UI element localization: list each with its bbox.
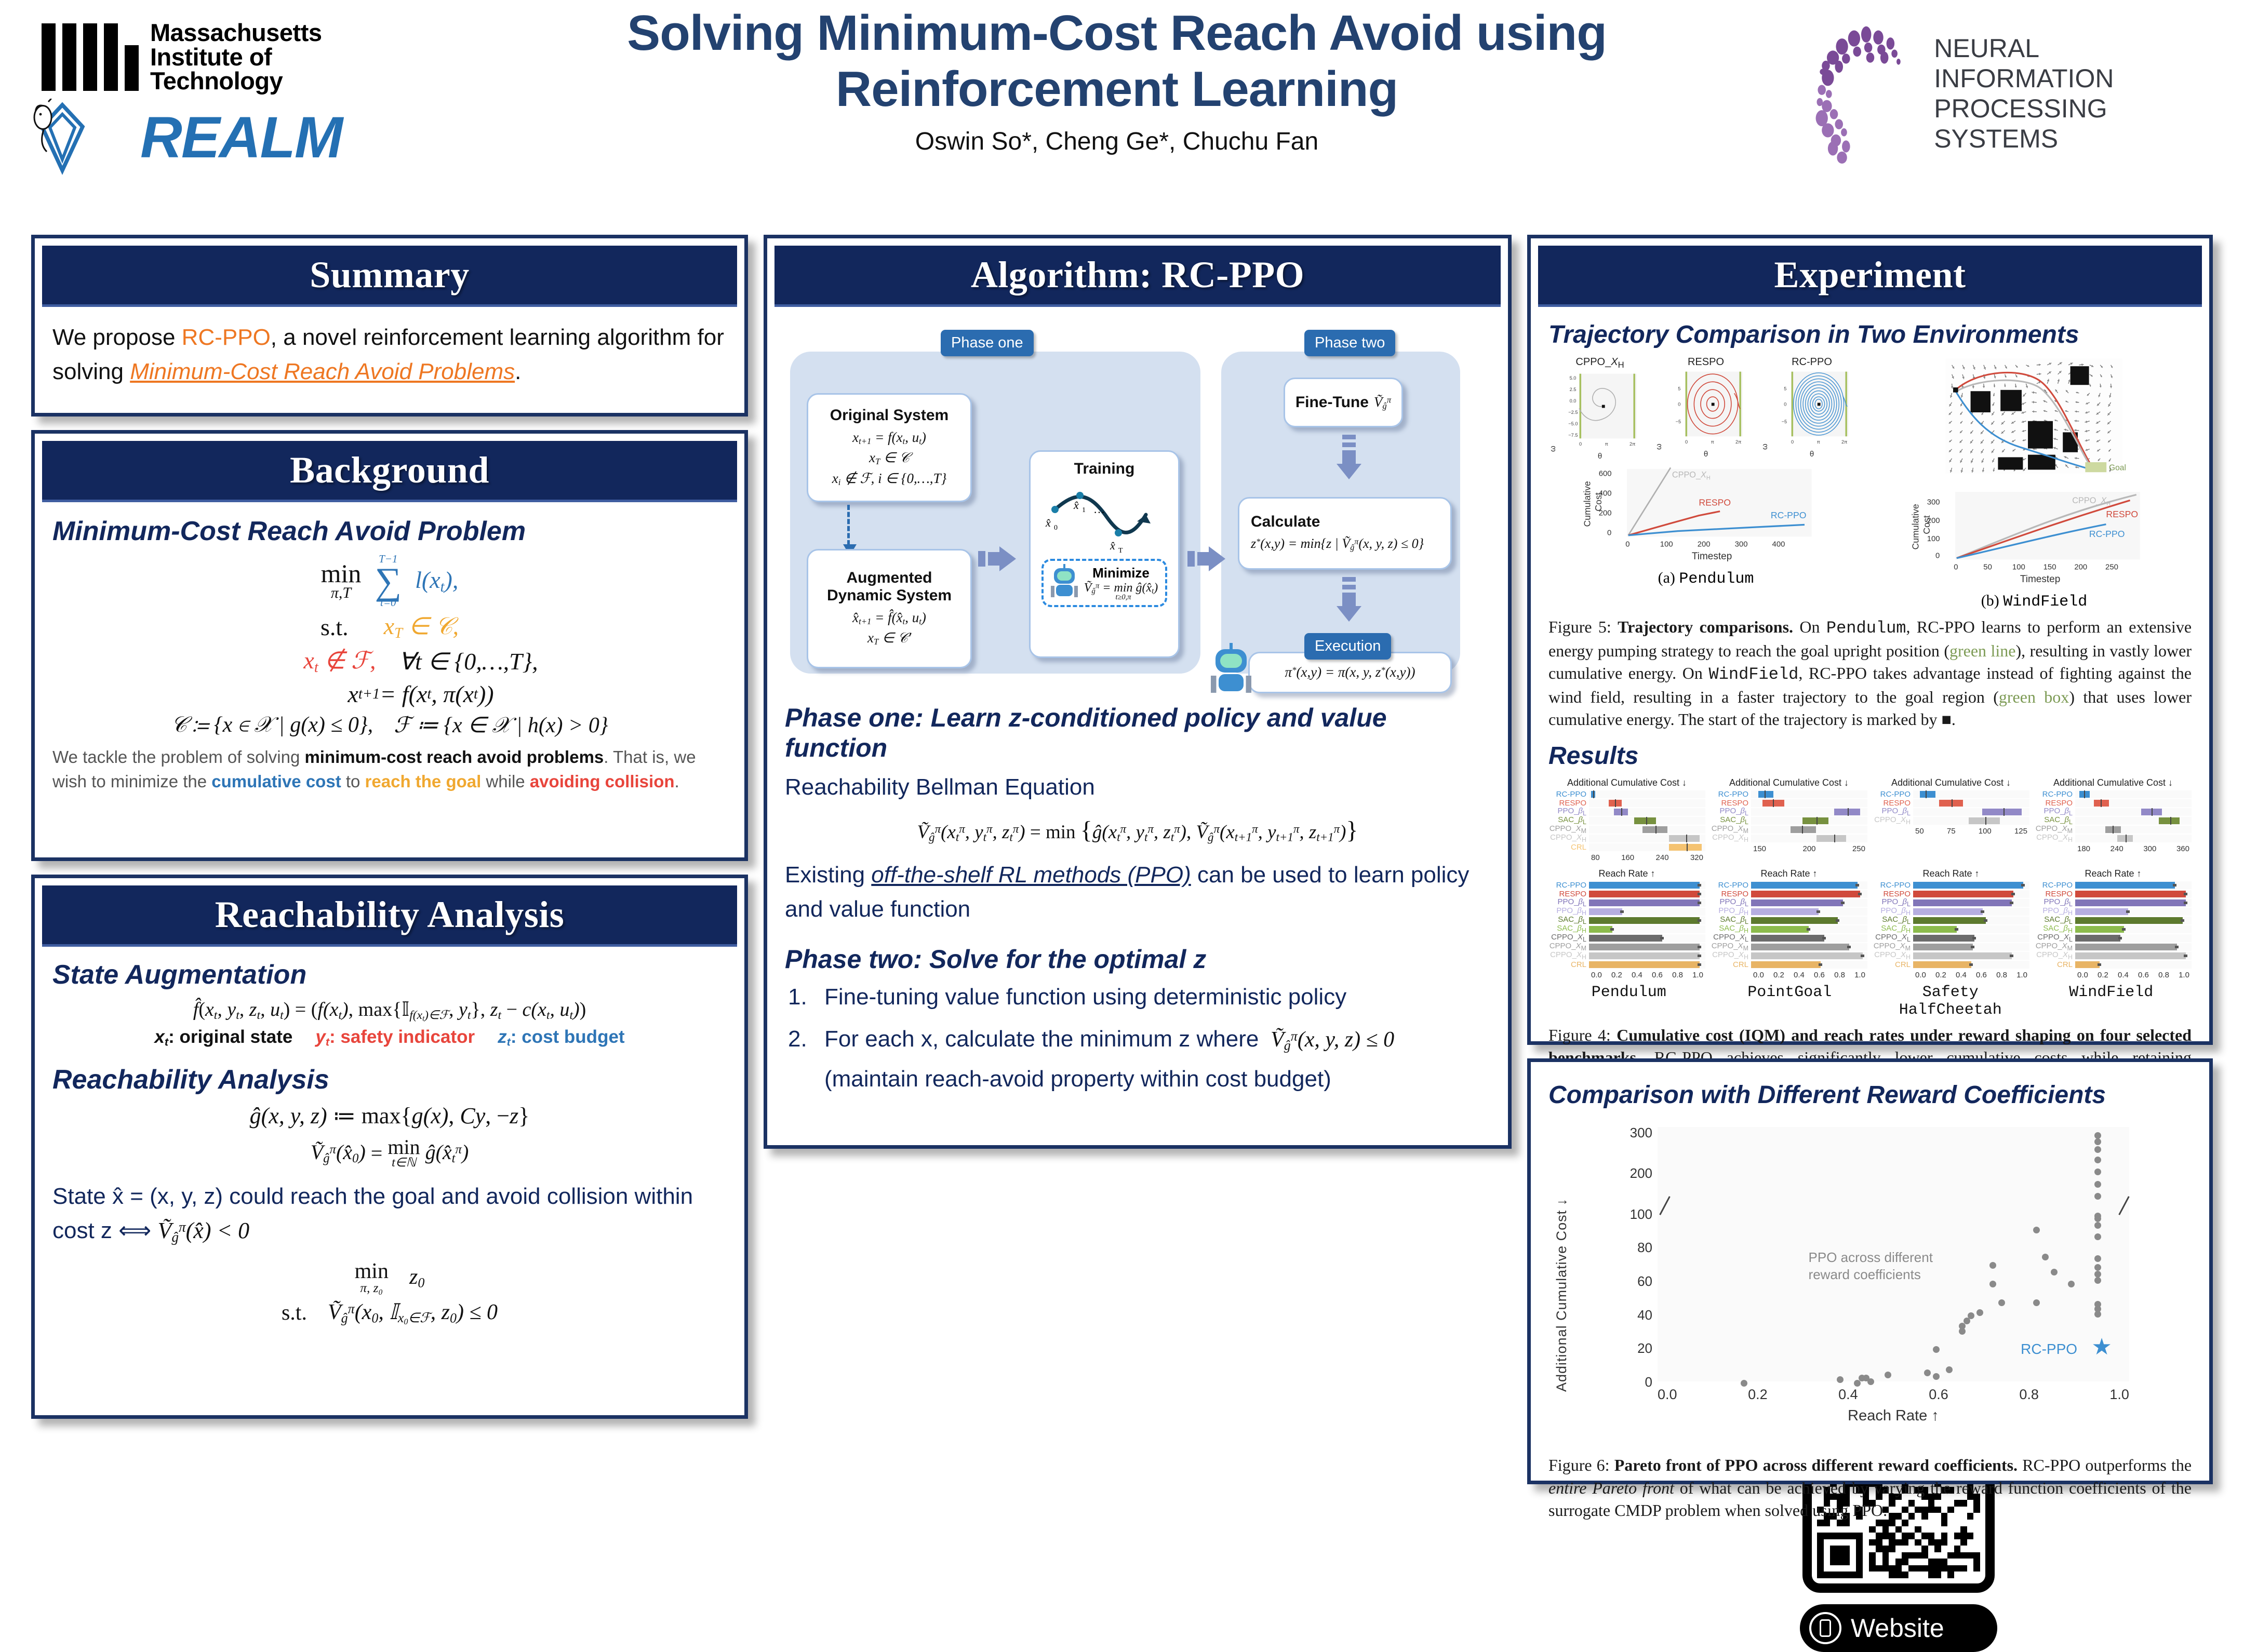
cost-row-track — [1751, 790, 1867, 798]
cost-row-track — [1751, 835, 1867, 842]
reach-row-track — [1589, 961, 1705, 969]
cost-row: RC-PPO — [2035, 790, 2192, 799]
scatter-xtick: 0.4 — [1838, 1387, 1858, 1403]
bellman-equation: Ṽĝπ(xtπ, ytπ, ztπ) = min {ĝ(xtπ, ytπ,… — [785, 816, 1490, 844]
svg-text:−7.5: −7.5 — [1568, 433, 1578, 438]
cost-row-track — [2075, 817, 2192, 825]
panel-reward-coefficients: Comparison with Different Reward Coeffic… — [1527, 1058, 2213, 1484]
reach-row-track — [2075, 881, 2192, 889]
reachability-statement-math: Ṽĝπ(x̂) < 0 — [157, 1218, 249, 1243]
reward-heading: Comparison with Different Reward Coeffic… — [1548, 1081, 2192, 1109]
reach-bar — [1751, 961, 1821, 968]
summary-text-end: . — [515, 359, 521, 384]
reach-chart-title: Reach Rate ↑ — [1873, 868, 2029, 879]
aug-eq-1: x̂t+1 = f̂(x̂t, ut) — [852, 608, 926, 628]
reach-row-track — [1751, 890, 1867, 898]
cost-row-label: RESPO — [2035, 799, 2075, 807]
cost-iqm-interval — [1669, 844, 1701, 851]
reach-row-label: CPPO_XH — [2035, 951, 2075, 961]
phase-ylabel-rcppo: ω — [1760, 369, 1769, 450]
scatter-yticks: 020406080100200300 — [1611, 1127, 1652, 1381]
reach-row-label: RC-PPO — [1548, 881, 1589, 889]
reach-bar — [2075, 899, 2186, 906]
cost-iqm-interval — [2094, 800, 2109, 807]
background-header: Background — [42, 441, 737, 502]
scatter-point — [2033, 1299, 2040, 1306]
cost-row: CPPO_XH — [1711, 834, 1867, 843]
value-equation: Ṽĝπ(x̂0) = mint∈ℕ ĝ(x̂tπ) — [52, 1137, 727, 1169]
reach-bar — [1913, 917, 1986, 924]
cost-row-track — [1913, 790, 2029, 798]
background-title: Background — [290, 449, 489, 492]
panel-algorithm: Algorithm: RC-PPO Phase one Phase two Or… — [764, 235, 1512, 1149]
cost-row-track — [1913, 817, 2029, 825]
reach-bar — [1913, 908, 1983, 915]
reach-row-track — [2075, 952, 2192, 960]
cost-iqm-interval — [1791, 826, 1816, 833]
cost-iqm-interval — [1758, 791, 1774, 798]
cost-row: CPPO_XH — [2035, 834, 2192, 843]
scatter-point — [2094, 1169, 2101, 1175]
benchmark-name: PointGoal — [1709, 984, 1871, 1019]
phase-plot-rcppo: 5 0 −5 0 π 2π — [1769, 369, 1863, 447]
cost-iqm-interval — [2105, 826, 2121, 833]
scatter-point — [2094, 1271, 2101, 1278]
algorithm-diagram: Phase one Phase two Original System xt+1… — [785, 326, 1490, 689]
cost-row-track — [1589, 790, 1705, 798]
scatter-point — [2068, 1281, 2075, 1287]
reach-row-track — [1589, 899, 1705, 907]
reach-xticks: 0.00.20.40.60.81.0 — [1913, 969, 2029, 979]
bellman-label: Reachability Bellman Equation — [785, 770, 1490, 804]
reach-row-track — [1589, 917, 1705, 924]
background-note: We tackle the problem of solving minimum… — [52, 745, 727, 794]
scatter-xlabel: Reach Rate ↑ — [1658, 1407, 2129, 1425]
scatter-point — [2094, 1277, 2101, 1284]
cost-iqm-interval — [1669, 835, 1700, 842]
pendulum-figure: CPPO_XH ω — [1548, 356, 1863, 588]
reach-row: CRL — [1548, 960, 1705, 969]
reach-row: RC-PPO — [1548, 881, 1705, 890]
reach-bar — [1589, 908, 1622, 915]
reach-bar — [2075, 882, 2175, 889]
reach-row-track — [1751, 908, 1867, 916]
cost-chart-safety-halfcheetah: Additional Cumulative Cost ↓ RC-PPO RESP… — [1873, 777, 2029, 862]
reach-bar — [1913, 899, 2012, 906]
reach-xticks: 0.00.20.40.60.81.0 — [1589, 969, 1705, 979]
cost-row-label: RC-PPO — [1548, 790, 1589, 798]
phase-panel-rcppo: RC-PPO ω — [1760, 356, 1863, 461]
reach-bar — [2075, 891, 2186, 897]
reach-chart-safety-halfcheetah: Reach Rate ↑ RC-PPO RESPO PPO_βL PPO_βH … — [1873, 868, 2029, 979]
scatter-ytick: 0 — [1645, 1374, 1652, 1390]
reach-row-track — [1751, 943, 1867, 951]
scatter-point — [2094, 1264, 2101, 1271]
reach-row-label: RC-PPO — [1873, 881, 1913, 889]
cost-iqm-interval — [2159, 817, 2180, 824]
svg-text:RESPO: RESPO — [2106, 509, 2138, 519]
reach-row-label: CRL — [1548, 961, 1589, 969]
column-right: Experiment Trajectory Comparison in Two … — [1527, 235, 2213, 1498]
arrow-to-phase-two — [1187, 546, 1225, 571]
calculate-box: Calculate z*(x,y) = min{z | Ṽĝπ(x, y, … — [1238, 497, 1452, 570]
cost-row-label: RESPO — [1873, 799, 1913, 807]
cost-chart-title: Additional Cumulative Cost ↓ — [1548, 777, 1705, 788]
mit-line-1: Massachusetts — [150, 21, 322, 45]
cost-row-track — [1589, 843, 1705, 851]
scatter-ytick: 60 — [1637, 1273, 1652, 1290]
panel-background: Background Minimum-Cost Reach Avoid Prob… — [31, 430, 748, 861]
panel-reachability: Reachability Analysis State Augmentation… — [31, 875, 748, 1419]
scatter-point — [2094, 1233, 2101, 1240]
reach-row-track — [1913, 961, 2029, 969]
reach-row: CPPO_XH — [1711, 951, 1867, 960]
set-definitions: 𝒞 ≔ {x ∈ 𝒳 | g(x) ≤ 0}, ℱ ≔ {x ∈ 𝒳 | h(x… — [171, 712, 608, 738]
svg-text:Timestep: Timestep — [1692, 551, 1732, 562]
cost-row-label: RC-PPO — [1711, 790, 1751, 798]
aug-eq-2: xT ∈ 𝒞′ — [867, 628, 911, 648]
reach-row-track — [1913, 890, 2029, 898]
mit-logo-mark — [42, 23, 139, 91]
reachability-statement: State x̂ = (x, y, z) could reach the goa… — [52, 1179, 727, 1248]
augmentation-legend: xt: original state yt: safety indicator … — [52, 1027, 727, 1049]
reach-bar — [1913, 961, 1971, 968]
reach-row: CPPO_XH — [1548, 951, 1705, 960]
reach-row-track — [2075, 908, 2192, 916]
cost-row-track — [2075, 826, 2192, 834]
minimize-equation: Ṽĝπ = mint≥0,π ĝ(x̂t) — [1084, 581, 1158, 601]
svg-text:2π: 2π — [1629, 441, 1636, 447]
reach-bar — [1913, 952, 2012, 959]
pendulum-phase-row: CPPO_XH ω — [1548, 356, 1863, 461]
scatter-point — [1946, 1366, 1953, 1373]
reachability-subheading: Reachability Analysis — [52, 1064, 727, 1095]
svg-text:RESPO: RESPO — [1699, 498, 1731, 508]
phase-panel-cppo: CPPO_XH ω — [1548, 356, 1651, 461]
svg-text:100: 100 — [1927, 534, 1940, 543]
scatter-point — [1741, 1380, 1747, 1387]
reach-row-track — [1589, 952, 1705, 960]
phase-plot-respo: 5 0 −5 0 π 2π — [1663, 369, 1757, 447]
reach-bar — [2075, 952, 2186, 959]
reach-row-label: CPPO_XH — [1711, 951, 1751, 961]
calculate-eq: z*(x,y) = min{z | Ṽĝπ(x, y, z) ≤ 0} — [1251, 534, 1424, 554]
svg-text:300: 300 — [1927, 498, 1940, 507]
scatter-ylabel: Additional Cumulative Cost ↓ — [1554, 1148, 1570, 1392]
reach-row-label: CRL — [1711, 961, 1751, 969]
reach-bar — [1913, 935, 1974, 942]
cost-xticks: 180240300360 — [2075, 843, 2192, 853]
reach-row: RC-PPO — [1711, 881, 1867, 890]
scatter-ytick: 40 — [1637, 1307, 1652, 1323]
svg-text:0: 0 — [1791, 439, 1794, 445]
reach-row-track — [2075, 890, 2192, 898]
scatter-point — [2094, 1222, 2101, 1229]
cost-row-label: CPPO_XH — [1548, 834, 1589, 843]
reach-row-track — [1913, 881, 2029, 889]
svg-text:−5.0: −5.0 — [1568, 421, 1578, 426]
summary-text: We propose RC-PPO, a novel reinforcement… — [52, 320, 727, 389]
cost-row-track — [1751, 817, 1867, 825]
summation: T−1 ∑ t=0 — [375, 554, 402, 608]
svg-text:−5: −5 — [1782, 419, 1787, 424]
reach-row-track — [1913, 952, 2029, 960]
reach-row-label: CPPO_XH — [1873, 951, 1913, 961]
reach-chart-pendulum: Reach Rate ↑ RC-PPO RESPO PPO_βL PPO_βH … — [1548, 868, 1705, 979]
scatter-annotation: PPO across differentreward coefficients — [1809, 1249, 1933, 1283]
reach-row-track — [1913, 943, 2029, 951]
mit-line-3: Technology — [150, 69, 322, 93]
phase-xlabel-rcppo: θ — [1760, 450, 1863, 459]
cost-row-track — [1589, 835, 1705, 842]
scatter-point — [2094, 1301, 2101, 1308]
results-cost-charts: Additional Cumulative Cost ↓ RC-PPO RESP… — [1548, 777, 2192, 862]
svg-text:CPPO_XH: CPPO_XH — [2072, 496, 2111, 507]
orig-eq-2: xT ∈ 𝒞 — [869, 448, 910, 468]
cost-row-track — [2075, 808, 2192, 816]
reach-row: CRL — [1711, 960, 1867, 969]
fine-tune-eq: Ṽĝπ — [1374, 392, 1391, 412]
reach-row-track — [1589, 925, 1705, 933]
scatter-xtick: 1.0 — [2109, 1387, 2129, 1403]
phase-two-steps: Fine-tuning value function using determi… — [785, 982, 1490, 1055]
reach-row-track — [1751, 917, 1867, 924]
orig-to-augmented-arrow — [847, 505, 850, 545]
reach-row-label: CRL — [2035, 961, 2075, 969]
reach-row-track — [2075, 899, 2192, 907]
objective-term: l(xt), — [415, 566, 458, 596]
arrow-to-training — [978, 546, 1016, 571]
cost-iqm-interval — [1939, 800, 1963, 807]
scatter-point — [1924, 1369, 1931, 1376]
optimization-problem: min π, z₀ z0 s.t. Ṽĝπ(x0, 𝕀x0∈ℱ, z0) ≤… — [52, 1261, 727, 1327]
reach-chart-windfield: Reach Rate ↑ RC-PPO RESPO PPO_βL PPO_βH … — [2035, 868, 2192, 979]
scatter-plot-area: PPO across differentreward coefficients … — [1658, 1127, 2129, 1381]
step-2: For each x, calculate the minimum z wher… — [785, 1024, 1490, 1055]
realm-wordmark: REALM — [140, 109, 342, 167]
scatter-ytick: 200 — [1630, 1165, 1652, 1181]
realm-shield-icon — [31, 99, 140, 177]
svg-text:5: 5 — [1784, 386, 1786, 391]
reach-row-track — [1913, 934, 2029, 942]
cost-iqm-interval — [1920, 791, 1935, 798]
panel-summary: Summary We propose RC-PPO, a novel reinf… — [31, 235, 748, 417]
scatter-point — [1837, 1376, 1844, 1383]
reach-bar — [1751, 882, 1858, 889]
reach-bar — [1913, 891, 2013, 897]
cost-iqm-interval — [1762, 800, 1784, 807]
reach-bar — [1913, 926, 1957, 933]
cost-iqm-interval — [2117, 835, 2133, 842]
cost-chart-windfield: Additional Cumulative Cost ↓ RC-PPO RESP… — [2035, 777, 2192, 862]
scatter-point — [2094, 1146, 2101, 1153]
neurips-swirl-icon — [1808, 21, 1929, 166]
cost-row-track — [1913, 799, 2029, 807]
reach-bar — [1751, 917, 1838, 924]
reach-chart-title: Reach Rate ↑ — [2035, 868, 2192, 879]
cost-xticks: 5075100125 — [1913, 825, 2029, 836]
reach-bar — [1751, 891, 1860, 897]
reach-bar — [1589, 944, 1700, 950]
cost-row-label: RC-PPO — [2035, 790, 2075, 798]
scatter-xtick: 0.2 — [1748, 1387, 1768, 1403]
scatter-ytick: 300 — [1630, 1125, 1652, 1141]
reach-bar — [1751, 899, 1843, 906]
windfield-cumcost-plot: 300 200 100 0 Cumulative Cost CPPO_XH RE… — [1877, 488, 2192, 586]
reach-row-track — [1913, 908, 2029, 916]
summary-header: Summary — [42, 246, 737, 307]
reach-chart-title: Reach Rate ↑ — [1548, 868, 1705, 879]
background-subheading: Minimum-Cost Reach Avoid Problem — [52, 516, 727, 547]
realm-logo: REALM — [31, 99, 426, 177]
svg-text:RC-PPO: RC-PPO — [1771, 510, 1807, 520]
scatter-point — [2094, 1157, 2101, 1163]
benchmark-names-row: PendulumPointGoalSafety HalfCheetahWindF… — [1548, 984, 2192, 1019]
cost-chart-title: Additional Cumulative Cost ↓ — [2035, 777, 2192, 788]
figure-5: CPPO_XH ω — [1548, 356, 2192, 611]
svg-text:2π: 2π — [1841, 439, 1848, 445]
cost-row-label: RC-PPO — [1873, 790, 1913, 798]
reach-row-track — [1913, 925, 2029, 933]
reach-row-track — [1589, 890, 1705, 898]
benchmark-name: Safety HalfCheetah — [1870, 984, 2031, 1019]
cost-xticks: 80160240320 — [1589, 852, 1705, 862]
reach-row: CRL — [1873, 960, 2029, 969]
note-reach-goal: reach the goal — [365, 772, 482, 791]
opt-min: min π, z₀ — [355, 1261, 389, 1295]
svg-text:1: 1 — [1082, 506, 1086, 514]
cost-iqm-interval — [1614, 809, 1628, 815]
reach-row-track — [1751, 952, 1867, 960]
note-cumulative-cost: cumulative cost — [211, 772, 341, 791]
cost-row: RC-PPO — [1548, 790, 1705, 799]
reach-row-track — [1589, 908, 1705, 916]
phase-ylabel-respo: ω — [1654, 369, 1663, 450]
svg-text:100: 100 — [1660, 540, 1673, 548]
svg-text:Cumulative: Cumulative — [1582, 481, 1592, 527]
windfield-map-plot: Goal — [1877, 356, 2192, 481]
cost-row-label: CPPO_XH — [1711, 834, 1751, 843]
svg-text:0: 0 — [1607, 529, 1611, 538]
svg-text:150: 150 — [2043, 562, 2056, 571]
svg-text:0: 0 — [1935, 552, 1940, 560]
pendulum-cumcost-plot: 600 400 200 0 Cumulative Cost CPPO_XH RE… — [1548, 465, 1863, 563]
phase-two-tag: Phase two — [1304, 330, 1395, 356]
reach-bar — [1589, 882, 1700, 889]
step-2-math: Ṽĝπ(x, y, z) ≤ 0 — [1265, 1028, 1395, 1052]
reach-row-track — [1589, 943, 1705, 951]
cost-row: RC-PPO — [1873, 790, 2029, 799]
reach-chart-pointgoal: Reach Rate ↑ RC-PPO RESPO PPO_βL PPO_βH … — [1711, 868, 1867, 979]
reach-xticks: 0.00.20.40.60.81.0 — [2075, 969, 2192, 979]
website-button[interactable]: Website — [1800, 1604, 1997, 1652]
cost-iqm-interval — [1802, 817, 1828, 824]
cost-row-label: CRL — [1548, 843, 1589, 851]
poster-authors: Oswin So*, Cheng Ge*, Chuchu Fan — [493, 127, 1740, 156]
subcaption-a: (a) Pendulum — [1548, 569, 1863, 588]
phase-panel-respo: RESPO ω — [1654, 356, 1757, 461]
subcaption-b: (b) WindField — [1877, 592, 2192, 611]
scatter-point — [1885, 1372, 1891, 1378]
cost-row: CPPO_XH — [1873, 816, 2029, 825]
reach-bar — [1751, 935, 1824, 942]
original-system-box: Original System xt+1 = f(xt, ut) xT ∈ 𝒞 … — [807, 393, 972, 502]
reach-row-track — [1751, 899, 1867, 907]
scatter-point — [1989, 1262, 1996, 1269]
phase-ylabel-cppo: ω — [1548, 371, 1557, 452]
poster-title-line-1: Solving Minimum-Cost Reach Avoid using — [493, 5, 1740, 61]
svg-text:Timestep: Timestep — [2020, 574, 2060, 585]
reach-row-label: RC-PPO — [1711, 881, 1751, 889]
scatter-point — [2094, 1181, 2101, 1188]
cost-row-track — [1589, 826, 1705, 834]
svg-text:0: 0 — [1784, 401, 1786, 407]
st-label: s.t. — [320, 613, 349, 641]
svg-text:2.5: 2.5 — [1570, 387, 1577, 392]
scatter-point — [2094, 1193, 2101, 1200]
poster-header: Massachusetts Institute of Technology RE… — [0, 0, 2244, 235]
summary-link: Minimum-Cost Reach Avoid Problems — [130, 359, 515, 384]
svg-text:0: 0 — [1678, 401, 1680, 407]
scatter-ytick: 80 — [1637, 1240, 1652, 1256]
experiment-header: Experiment — [1538, 246, 2202, 307]
reach-bar — [1589, 891, 1700, 897]
constraint-forall: ∀t ∈ {0,…,T}, — [399, 647, 538, 675]
phone-icon — [1809, 1612, 1841, 1644]
scatter-point — [1933, 1373, 1940, 1380]
arrow-finetune-to-calc — [1337, 435, 1361, 479]
svg-text:200: 200 — [1698, 540, 1711, 548]
svg-text:0: 0 — [1579, 441, 1582, 447]
reach-row-label: RESPO — [1873, 890, 1913, 898]
scatter-point — [1933, 1346, 1940, 1353]
scatter-xticks: 0.00.20.40.60.81.0 — [1658, 1387, 2129, 1403]
cost-iqm-interval — [1834, 809, 1860, 815]
svg-text:100: 100 — [2012, 562, 2025, 571]
svg-text:600: 600 — [1599, 469, 1612, 478]
mit-line-2: Institute of — [150, 45, 322, 70]
opt-constraint: Ṽĝπ(x0, 𝕀x0∈ℱ, z0) ≤ 0 — [328, 1299, 498, 1327]
reach-bar — [1589, 935, 1662, 942]
reach-row-track — [1751, 925, 1867, 933]
scatter-point — [2094, 1255, 2101, 1262]
cost-iqm-interval — [2079, 791, 2090, 798]
cost-row: CRL — [1548, 843, 1705, 852]
arrow-calc-to-exec — [1337, 577, 1361, 622]
reach-row: RC-PPO — [1873, 881, 2029, 890]
reach-row: CPPO_XH — [1873, 951, 2029, 960]
opt-st-label: s.t. — [282, 1300, 307, 1325]
svg-text:Cost: Cost — [1921, 515, 1932, 534]
svg-text:0: 0 — [1625, 540, 1629, 548]
legend-y: yt: safety indicator — [315, 1027, 475, 1049]
reach-bar — [1751, 944, 1849, 950]
cost-row-label: RESPO — [1548, 799, 1589, 807]
reach-bar — [2075, 935, 2120, 942]
trajectory-heading: Trajectory Comparison in Two Environment… — [1548, 320, 2192, 349]
ghat-equation: ĝ(x, y, z) ≔ max{g(x), Cy, −z} — [52, 1103, 727, 1129]
svg-text:…: … — [1093, 503, 1105, 516]
svg-text:π: π — [1817, 439, 1820, 445]
reach-row-track — [1913, 899, 2029, 907]
cost-row-track — [1589, 817, 1705, 825]
reach-row-track — [2075, 934, 2192, 942]
svg-text:T: T — [1118, 547, 1123, 554]
reach-row: CRL — [2035, 960, 2192, 969]
phase-title-respo: RESPO — [1654, 356, 1757, 368]
orig-eq-1: xt+1 = f(xt, ut) — [852, 427, 926, 448]
reach-bar — [1589, 926, 1612, 933]
